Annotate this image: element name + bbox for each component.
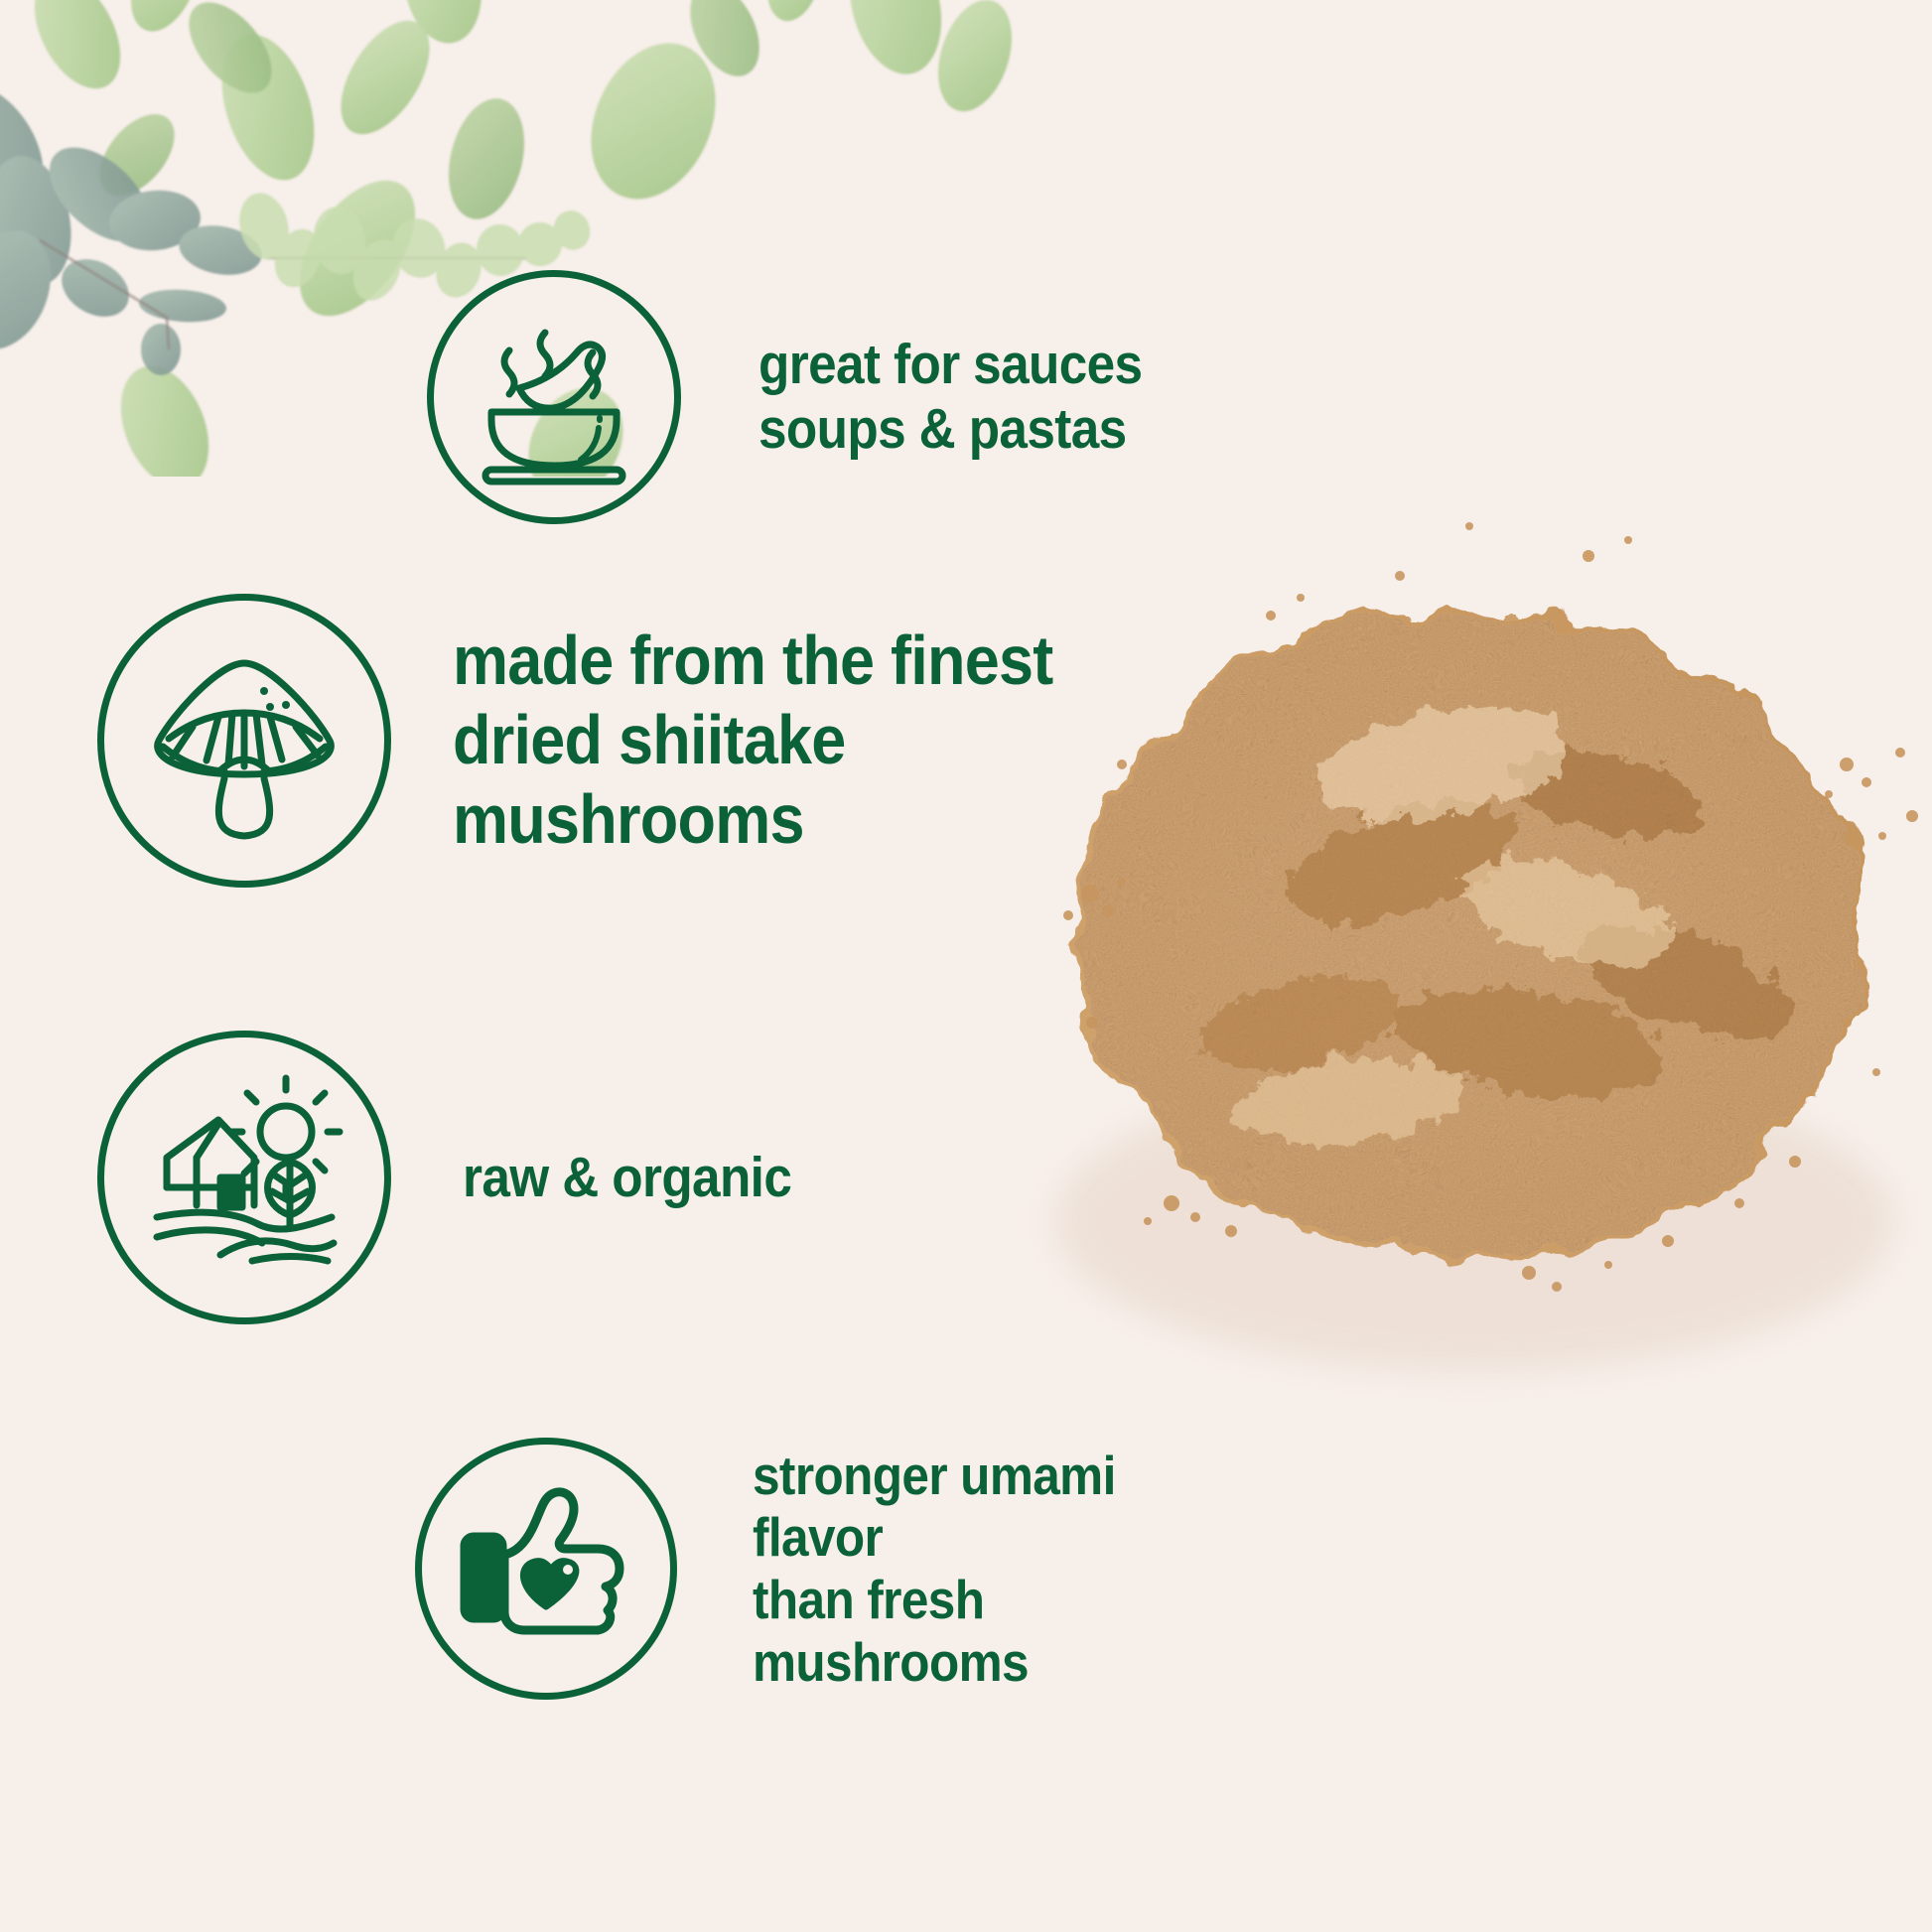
feature-item-umami: stronger umami flavor than fresh mushroo…	[415, 1438, 1291, 1700]
feature-item-organic: raw & organic	[97, 1031, 828, 1324]
soup-bowl-spoon-steam-icon	[427, 270, 681, 524]
feature-label-organic: raw & organic	[463, 1146, 791, 1210]
feature-label-shiitake: made from the finest dried shiitake mush…	[453, 621, 1207, 859]
mushroom-icon	[97, 594, 391, 888]
feature-label-umami: stronger umami flavor than fresh mushroo…	[753, 1445, 1237, 1694]
farm-sun-leaf-icon	[97, 1031, 391, 1324]
infographic-canvas: great for sauces soups & pastas	[0, 0, 1932, 1932]
feature-item-sauces: great for sauces soups & pastas	[427, 270, 1184, 524]
thumbs-up-heart-icon	[415, 1438, 677, 1700]
feature-item-shiitake: made from the finest dried shiitake mush…	[97, 594, 1291, 888]
feature-label-sauces: great for sauces soups & pastas	[759, 333, 1142, 462]
feature-list: great for sauces soups & pastas	[0, 0, 1291, 1932]
